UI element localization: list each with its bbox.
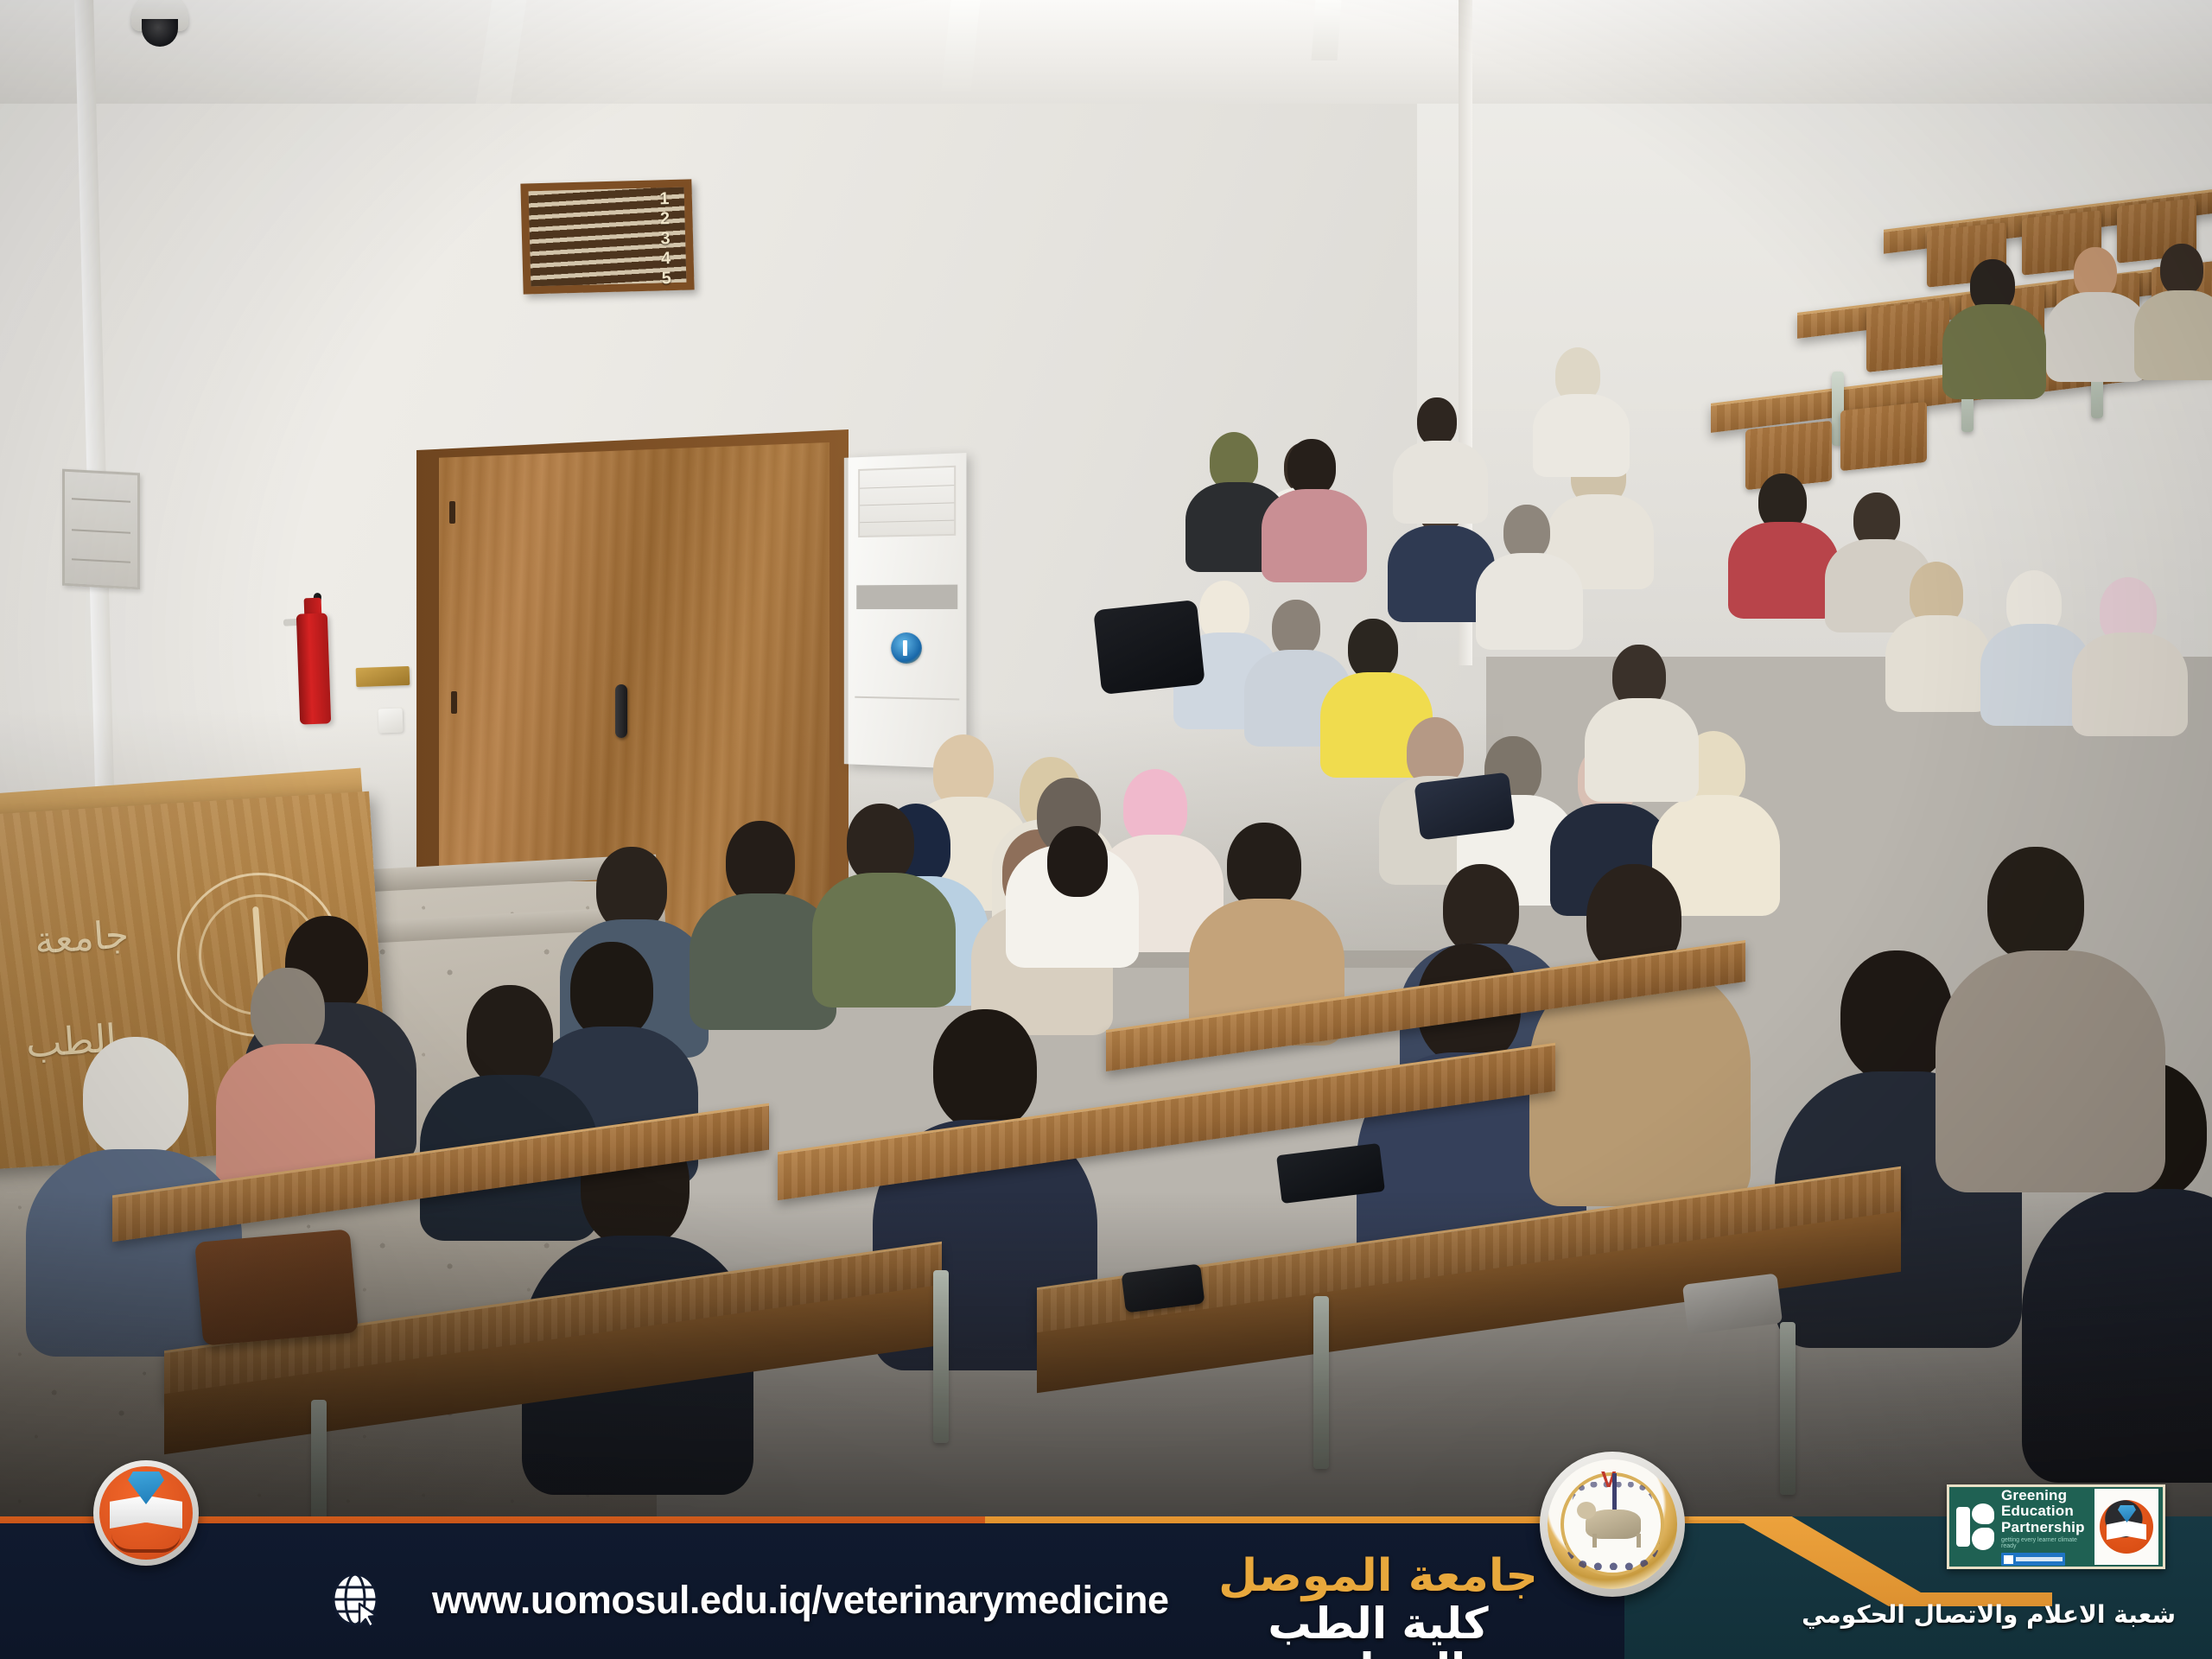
electrical-panel bbox=[62, 469, 140, 590]
globe-icon bbox=[328, 1573, 385, 1630]
handbag bbox=[1414, 772, 1515, 841]
arabic-institution-names: جامعة الموصل كلية الطب البيطري bbox=[1201, 1554, 1555, 1659]
security-camera-icon bbox=[131, 0, 188, 54]
seal-arabic-bottom bbox=[1565, 1541, 1660, 1570]
logo-disc bbox=[99, 1466, 193, 1560]
ac-seam bbox=[855, 696, 959, 701]
air-conditioner bbox=[844, 453, 967, 769]
event-photograph: 1 2 3 4 5 bbox=[0, 0, 2212, 1516]
lecture-seat bbox=[1840, 402, 1927, 472]
shield-icon bbox=[2118, 1505, 2136, 1522]
greening-education-partnership-badge: Greening Education Partnership getting e… bbox=[1947, 1484, 2165, 1569]
screenshot-root: 1 2 3 4 5 bbox=[0, 0, 2212, 1659]
gold-wall-plaque bbox=[356, 666, 410, 687]
plaque-number: 1 bbox=[659, 189, 670, 209]
ceiling-beam bbox=[1312, 0, 1342, 60]
open-book-icon bbox=[2107, 1521, 2146, 1540]
door-handle[interactable] bbox=[615, 684, 627, 738]
panel-line bbox=[72, 558, 130, 563]
university-emblem-tile bbox=[2094, 1489, 2158, 1565]
gep-tagline: getting every learner climate ready bbox=[2001, 1537, 2093, 1549]
plaque-number: 3 bbox=[660, 229, 671, 249]
logo-arabic-arc bbox=[111, 1534, 181, 1553]
photo-shadow bbox=[0, 1192, 2212, 1516]
wall-plaque: 1 2 3 4 5 bbox=[520, 179, 694, 294]
ac-grille bbox=[858, 466, 956, 537]
seal-disc: V bbox=[1548, 1459, 1677, 1589]
college-of-veterinary-medicine-seal: V bbox=[1540, 1452, 1685, 1597]
lecture-seat bbox=[1866, 300, 1949, 372]
gep-line-3: Partnership bbox=[2001, 1520, 2093, 1535]
ac-brand-logo-icon bbox=[891, 632, 922, 664]
university-of-mosul-logo bbox=[93, 1460, 199, 1566]
website-url[interactable]: www.uomosul.edu.iq/veterinarymedicine bbox=[432, 1578, 1169, 1623]
door-hinge bbox=[451, 691, 457, 714]
panel-line bbox=[72, 529, 130, 534]
arabic-university-name: جامعة الموصل bbox=[1201, 1554, 1555, 1599]
plaque-number: 2 bbox=[660, 209, 671, 229]
gep-text-block: Greening Education Partnership getting e… bbox=[1996, 1484, 2094, 1569]
ceiling bbox=[0, 0, 2212, 104]
plaque-number: 5 bbox=[661, 269, 671, 289]
fire-extinguisher-icon bbox=[296, 613, 331, 724]
plaque-number: 4 bbox=[661, 249, 671, 269]
gep-leaf-icon bbox=[1955, 1502, 1996, 1552]
podium-arabic-text: جامعة bbox=[33, 912, 130, 963]
gep-line-2: Education bbox=[2001, 1503, 2093, 1519]
arabic-college-name: كلية الطب البيطري bbox=[1201, 1601, 1555, 1659]
panel-line bbox=[72, 498, 130, 503]
ac-display-band bbox=[856, 585, 957, 609]
light-switch[interactable] bbox=[378, 709, 404, 734]
university-of-mosul-emblem bbox=[2100, 1500, 2153, 1554]
unesco-logo-icon bbox=[2001, 1553, 2065, 1566]
department-label: شعبة الاعلام والاتصال الحكومي bbox=[1802, 1600, 2176, 1629]
animal-figure-icon bbox=[1586, 1510, 1641, 1539]
camera-lens bbox=[142, 19, 178, 47]
door-hinge bbox=[449, 501, 455, 524]
plaque-numbers: 1 2 3 4 5 bbox=[650, 189, 682, 282]
backpack bbox=[1093, 600, 1205, 695]
gep-line-1: Greening bbox=[2001, 1488, 2093, 1503]
